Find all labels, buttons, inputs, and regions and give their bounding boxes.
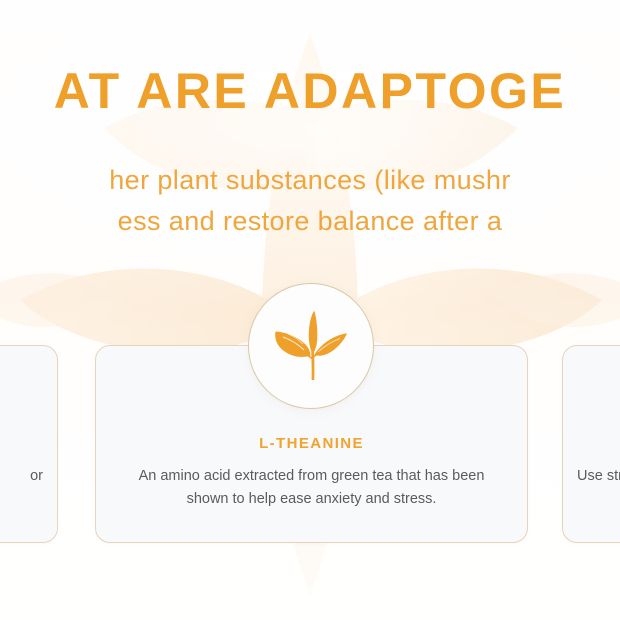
- decor-leaf-mid-left: [20, 269, 273, 353]
- page-subtitle: her plant substances (like mushr ess and…: [109, 160, 510, 242]
- infographic-stage: AT ARE ADAPTOGE her plant substances (li…: [0, 0, 620, 620]
- card-right[interactable]: Use stre: [562, 345, 620, 543]
- decor-leaf-far-left: [0, 273, 126, 327]
- card-l-theanine-title: L-THEANINE: [96, 435, 527, 452]
- leaf-badge: [248, 283, 374, 409]
- subtitle-line-1: her plant substances (like mushr: [109, 160, 510, 201]
- decor-leaf-far-right: [494, 273, 620, 327]
- card-right-body: Use stre: [577, 465, 620, 488]
- tea-leaf-icon: [274, 311, 348, 381]
- card-l-theanine-body: An amino acid extracted from green tea t…: [126, 465, 497, 511]
- card-left[interactable]: or: [0, 345, 58, 543]
- page-title: AT ARE ADAPTOGE: [54, 66, 567, 116]
- card-left-body: or: [0, 465, 43, 488]
- decor-leaf-mid-right: [349, 269, 602, 353]
- subtitle-line-2: ess and restore balance after a: [109, 201, 510, 242]
